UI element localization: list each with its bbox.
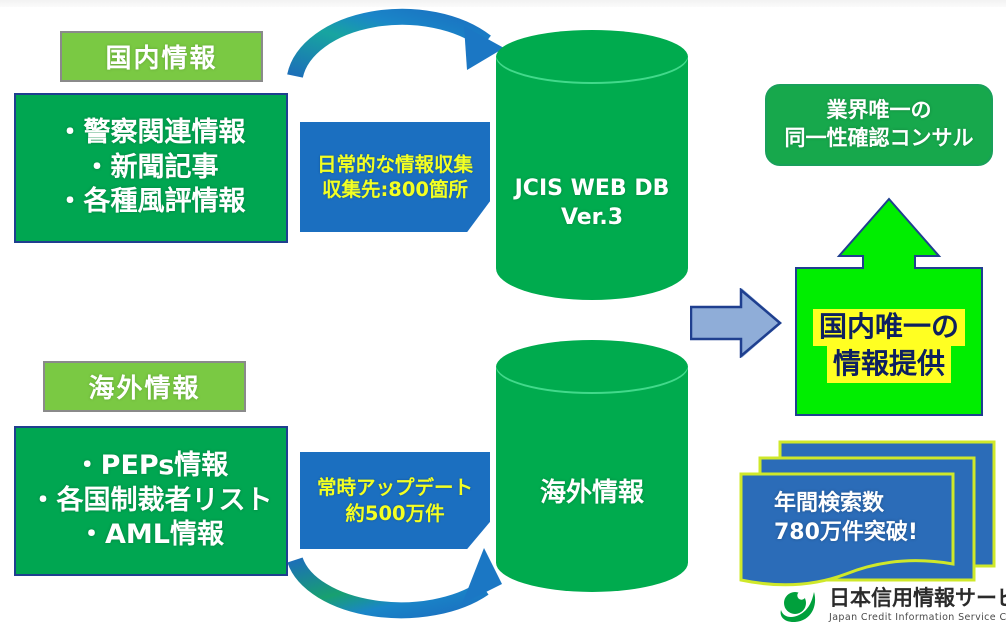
overseas-db-cylinder: 海外情報 [496, 340, 688, 592]
consult-line-1: 業界唯一の [827, 97, 932, 125]
cylinder-top-ellipse [496, 340, 688, 394]
consult-line-2: 同一性確認コンサル [785, 125, 974, 153]
domestic-item-1: ・警察関連情報 [57, 116, 246, 151]
overseas-item-3: ・AML情報 [78, 518, 224, 553]
annual-search-cards: 年間検索数 780万件突破! [736, 428, 998, 590]
domestic-section-chip: 国内情報 [60, 31, 263, 82]
overseas-item-1: ・PEPs情報 [74, 449, 229, 484]
unique-information-block: 国内唯一の 情報提供 [793, 196, 985, 418]
overseas-chip-label: 海外情報 [88, 368, 200, 405]
consult-callout-box: 業界唯一の 同一性確認コンサル [765, 84, 993, 166]
domestic-feed-arrow [278, 4, 528, 84]
provide-line-2: 情報提供 [827, 346, 951, 383]
overseas-note-line-1: 常時アップデート [317, 475, 473, 500]
logo-wordmark: 日本信用情報サービス Japan Credit Information Serv… [829, 587, 1006, 622]
right-block-arrow [690, 288, 782, 358]
annual-search-text: 年間検索数 780万件突破! [774, 490, 918, 547]
domestic-collection-note: 日常的な情報収集 収集先:800箇所 [300, 122, 490, 232]
jcis-db-line-2: Ver.3 [496, 204, 688, 233]
domestic-chip-label: 国内情報 [105, 38, 217, 75]
overseas-update-note: 常時アップデート 約500万件 [300, 452, 490, 549]
domestic-note-line-2: 収集先:800箇所 [322, 177, 468, 202]
diagram-canvas: 国内情報 ・警察関連情報 ・新聞記事 ・各種風評情報 日常的な情報収集 収集先:… [0, 0, 1006, 628]
jcis-db-line-1: JCIS WEB DB [496, 175, 688, 204]
logo-jp-name: 日本信用情報サービス [829, 587, 1006, 609]
overseas-db-label: 海外情報 [496, 477, 688, 511]
jcis-web-db-cylinder: JCIS WEB DB Ver.3 [496, 30, 688, 300]
jcis-db-label: JCIS WEB DB Ver.3 [496, 175, 688, 232]
overseas-feed-arrow [278, 548, 528, 628]
domestic-sources-box: ・警察関連情報 ・新聞記事 ・各種風評情報 [14, 93, 288, 243]
overseas-note-line-2: 約500万件 [345, 501, 444, 526]
up-arrow-shape [793, 196, 985, 418]
logo-en-name: Japan Credit Information Service Co.,Ltd… [829, 612, 1006, 623]
overseas-db-line-1: 海外情報 [496, 477, 688, 511]
company-logo: 日本信用情報サービス Japan Credit Information Serv… [778, 585, 1002, 625]
overseas-item-2: ・各国制裁者リスト [30, 484, 273, 519]
cylinder-top-ellipse [496, 30, 688, 84]
unique-info-text: 国内唯一の 情報提供 [793, 309, 985, 383]
overseas-sources-box: ・PEPs情報 ・各国制裁者リスト ・AML情報 [14, 426, 288, 576]
overseas-section-chip: 海外情報 [43, 361, 246, 412]
stats-line-1: 年間検索数 [774, 490, 918, 519]
jcis-logo-mark [778, 584, 820, 626]
domestic-note-line-1: 日常的な情報収集 [317, 152, 473, 177]
domestic-item-3: ・各種風評情報 [57, 185, 246, 220]
provide-line-1: 国内唯一の [813, 309, 965, 346]
stats-line-2: 780万件突破! [774, 519, 918, 548]
domestic-item-2: ・新聞記事 [84, 151, 219, 186]
